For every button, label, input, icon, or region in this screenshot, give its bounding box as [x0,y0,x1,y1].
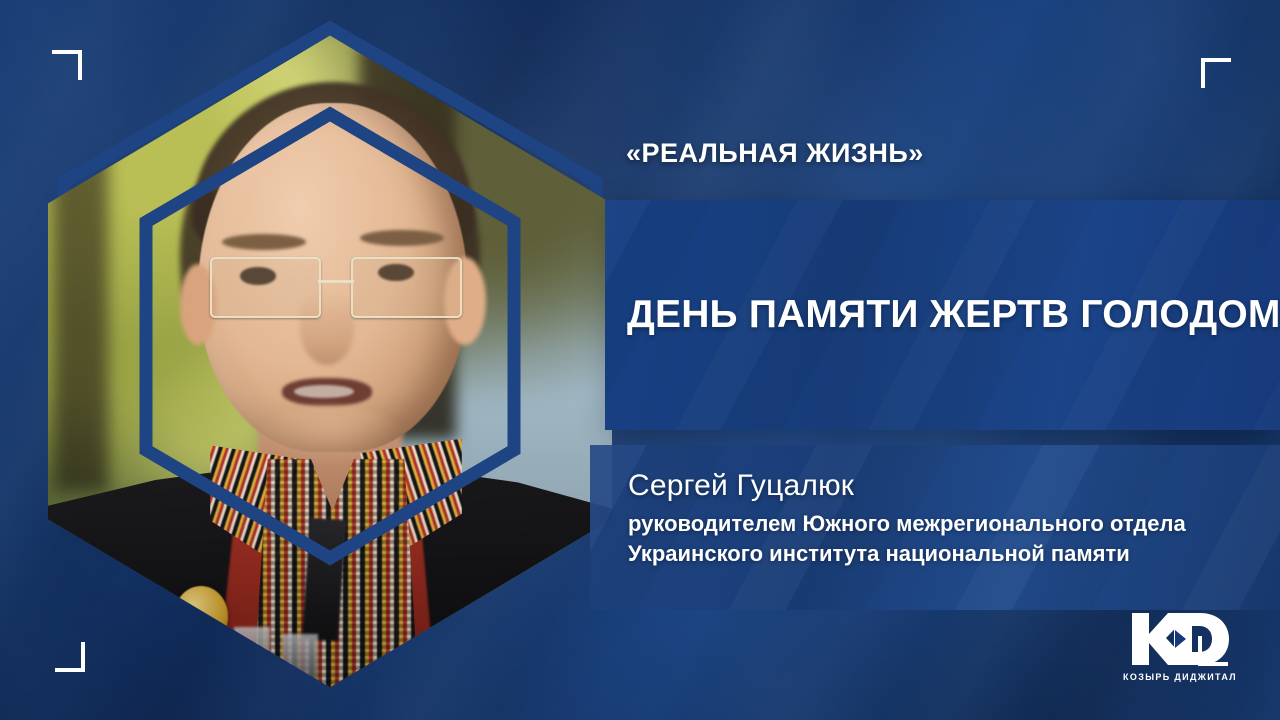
guest-portrait-hexagon [30,22,630,694]
headline-title: ДЕНЬ ПАМЯТИ ЖЕРТВ ГОЛОДОМОРА [627,293,1270,337]
guest-info-band: Сергей Гуцалюк руководителем Южного межр… [590,445,1280,610]
guest-name: Сергей Гуцалюк [628,469,1186,503]
program-kicker: «РЕАЛЬНАЯ ЖИЗНЬ» [626,138,924,169]
corner-bracket-top-right-icon [1201,58,1231,88]
guest-role-line-2: Украинского института национальной памят… [628,539,1186,569]
logo-monogram-kd-icon [1115,608,1245,670]
headline-band: ДЕНЬ ПАМЯТИ ЖЕРТВ ГОЛОДОМОРА [605,200,1280,430]
logo-wordmark: КОЗЫРЬ ДИДЖИТАЛ [1115,672,1245,682]
channel-logo: КОЗЫРЬ ДИДЖИТАЛ [1115,608,1245,698]
guest-role-line-1: руководителем Южного межрегионального от… [628,509,1186,539]
broadcast-lower-third-graphic: «РЕАЛЬНАЯ ЖИЗНЬ» ДЕНЬ ПАМЯТИ ЖЕРТВ ГОЛОД… [0,0,1280,720]
hexagon-frame-inner-blue-icon [30,22,630,694]
